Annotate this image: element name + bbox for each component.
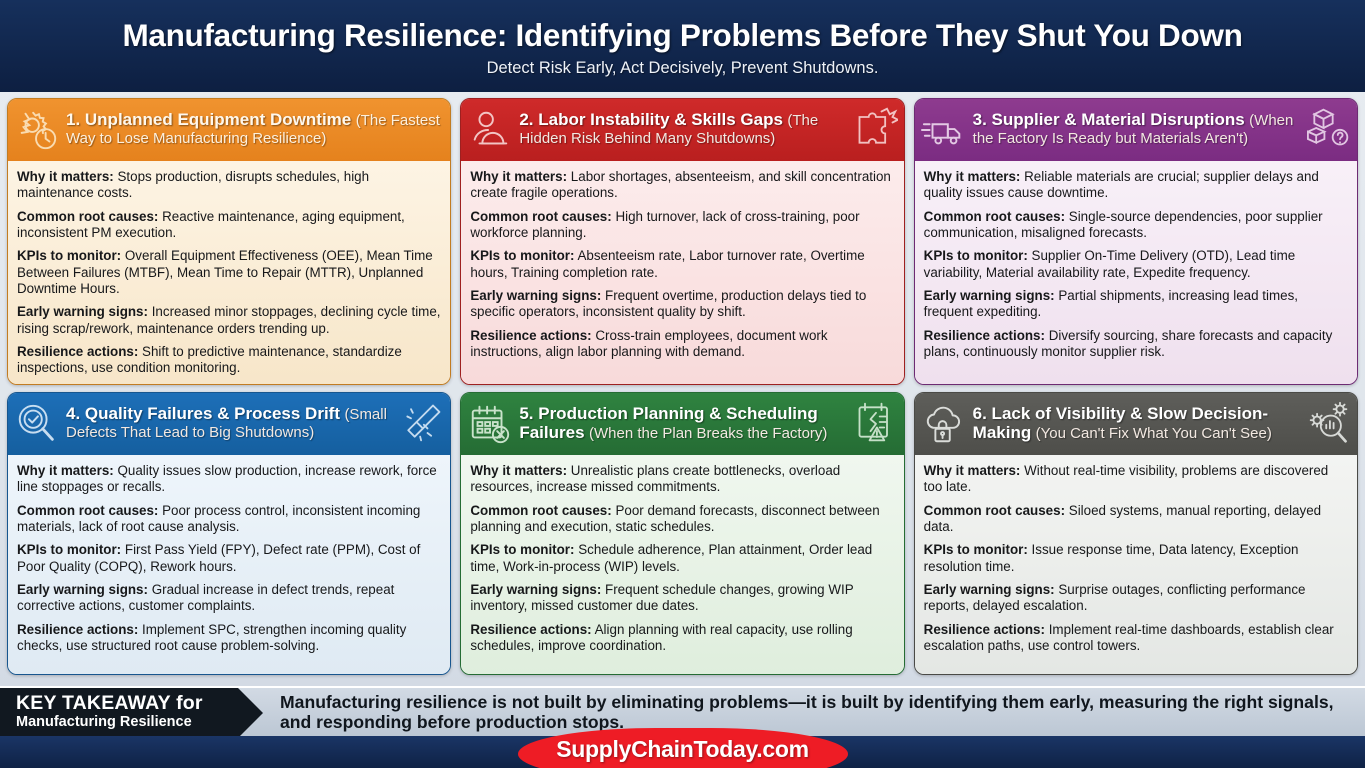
why-label: Why it matters: [470,169,567,184]
boxes-question-icon [1307,106,1351,150]
warning-label: Early warning signs: [470,288,601,303]
key-takeaway-label: KEY TAKEAWAY for Manufacturing Resilienc… [0,688,238,736]
root-causes-row: Common root causes: Reactive maintenance… [17,209,441,242]
page-subtitle: Detect Risk Early, Act Decisively, Preve… [487,59,879,78]
why-label: Why it matters: [924,463,1021,478]
cloud-lock-icon [921,401,967,447]
actions-label: Resilience actions: [17,344,138,359]
key-takeaway-label-line1: KEY TAKEAWAY for [16,693,238,713]
why-it-matters-row: Why it matters: Unrealistic plans create… [470,463,894,496]
actions-row: Resilience actions: Implement SPC, stren… [17,622,441,655]
card-header-text: 4. Quality Failures & Process Drift (Sma… [66,405,394,442]
card-header: 1. Unplanned Equipment Downtime (The Fas… [8,99,450,161]
card-body: Why it matters: Stops production, disrup… [8,161,450,384]
root-causes-row: Common root causes: Siloed systems, manu… [924,503,1348,536]
card-header: 3. Supplier & Material Disruptions (When… [915,99,1357,161]
card-title: 2. Labor Instability & Skills Gaps [519,110,783,129]
warning-signs-row: Early warning signs: Partial shipments, … [924,288,1348,321]
kpis-label: KPIs to monitor: [470,542,574,557]
kpis-row: KPIs to monitor: Issue response time, Da… [924,542,1348,575]
calendar-cancel-icon [467,401,513,447]
card-title: 1. Unplanned Equipment Downtime [66,110,351,129]
card-body: Why it matters: Quality issues slow prod… [8,455,450,674]
kpis-row: KPIs to monitor: Schedule adherence, Pla… [470,542,894,575]
why-label: Why it matters: [470,463,567,478]
card-quality-failures-process-drift[interactable]: 4. Quality Failures & Process Drift (Sma… [7,392,451,675]
why-it-matters-row: Why it matters: Labor shortages, absente… [470,169,894,202]
root-causes-row: Common root causes: Poor demand forecast… [470,503,894,536]
why-it-matters-row: Why it matters: Stops production, disrup… [17,169,441,202]
warning-label: Early warning signs: [17,582,148,597]
card-body: Why it matters: Labor shortages, absente… [461,161,903,384]
warning-label: Early warning signs: [17,304,148,319]
kpis-label: KPIs to monitor: [470,248,574,263]
card-header: 2. Labor Instability & Skills Gaps (The … [461,99,903,161]
kpis-row: KPIs to monitor: Absenteeism rate, Labor… [470,248,894,281]
card-lack-of-visibility-slow-decision-making[interactable]: 6. Lack of Visibility & Slow Decision-Ma… [914,392,1358,675]
actions-row: Resilience actions: Cross-train employee… [470,328,894,361]
footer-bar: SupplyChainToday.com [0,736,1365,768]
key-takeaway-label-line2: Manufacturing Resilience [16,715,238,731]
card-supplier-material-disruptions[interactable]: 3. Supplier & Material Disruptions (When… [914,98,1358,385]
actions-row: Resilience actions: Implement real-time … [924,622,1348,655]
card-body: Why it matters: Unrealistic plans create… [461,455,903,674]
puzzle-piece-icon [854,106,898,150]
root-causes-row: Common root causes: High turnover, lack … [470,209,894,242]
card-header: 5. Production Planning & Scheduling Fail… [461,393,903,455]
kpis-label: KPIs to monitor: [17,542,121,557]
warning-signs-row: Early warning signs: Frequent schedule c… [470,582,894,615]
card-header-text: 2. Labor Instability & Skills Gaps (The … [519,111,847,148]
infographic-page: Manufacturing Resilience: Identifying Pr… [0,0,1365,768]
actions-label: Resilience actions: [17,622,138,637]
page-title: Manufacturing Resilience: Identifying Pr… [122,17,1242,54]
card-header-text: 1. Unplanned Equipment Downtime (The Fas… [66,111,444,148]
broken-gear-clock-icon [14,107,60,153]
kpis-label: KPIs to monitor: [924,542,1028,557]
actions-row: Resilience actions: Diversify sourcing, … [924,328,1348,361]
site-logo-text: SupplyChainToday.com [556,736,809,763]
card-body: Why it matters: Reliable materials are c… [915,161,1357,384]
card-labor-instability-skills-gaps[interactable]: 2. Labor Instability & Skills Gaps (The … [460,98,904,385]
kpis-row: KPIs to monitor: Supplier On-Time Delive… [924,248,1348,281]
gears-magnifier-icon [1307,400,1351,444]
causes-label: Common root causes: [17,209,158,224]
causes-label: Common root causes: [17,503,158,518]
causes-label: Common root causes: [470,503,611,518]
card-unplanned-equipment-downtime[interactable]: 1. Unplanned Equipment Downtime (The Fas… [7,98,451,385]
card-production-planning-scheduling-failures[interactable]: 5. Production Planning & Scheduling Fail… [460,392,904,675]
actions-label: Resilience actions: [924,328,1045,343]
causes-label: Common root causes: [470,209,611,224]
cracked-part-icon [400,400,444,444]
card-subtitle: (You Can't Fix What You Can't See) [1036,425,1272,442]
actions-label: Resilience actions: [924,622,1045,637]
why-it-matters-row: Why it matters: Without real-time visibi… [924,463,1348,496]
card-title: 3. Supplier & Material Disruptions [973,110,1245,129]
card-subtitle: (When the Plan Breaks the Factory) [589,425,827,442]
card-header: 6. Lack of Visibility & Slow Decision-Ma… [915,393,1357,455]
warning-label: Early warning signs: [470,582,601,597]
root-causes-row: Common root causes: Poor process control… [17,503,441,536]
key-takeaway-text: Manufacturing resilience is not built by… [238,688,1365,736]
warning-signs-row: Early warning signs: Gradual increase in… [17,582,441,615]
why-it-matters-row: Why it matters: Reliable materials are c… [924,169,1348,202]
why-label: Why it matters: [17,169,114,184]
card-header: 4. Quality Failures & Process Drift (Sma… [8,393,450,455]
causes-label: Common root causes: [924,503,1065,518]
page-header: Manufacturing Resilience: Identifying Pr… [0,0,1365,92]
warning-signs-row: Early warning signs: Increased minor sto… [17,304,441,337]
worker-helmet-icon [467,107,513,153]
root-causes-row: Common root causes: Single-source depend… [924,209,1348,242]
kpis-row: KPIs to monitor: Overall Equipment Effec… [17,248,441,297]
actions-row: Resilience actions: Shift to predictive … [17,344,441,377]
why-it-matters-row: Why it matters: Quality issues slow prod… [17,463,441,496]
delivery-truck-icon [921,107,967,153]
site-logo[interactable]: SupplyChainToday.com [518,728,848,768]
card-header-text: 3. Supplier & Material Disruptions (When… [973,111,1301,148]
warning-signs-row: Early warning signs: Frequent overtime, … [470,288,894,321]
actions-label: Resilience actions: [470,622,591,637]
why-label: Why it matters: [924,169,1021,184]
card-grid: 1. Unplanned Equipment Downtime (The Fas… [7,98,1358,675]
card-header-text: 5. Production Planning & Scheduling Fail… [519,405,847,443]
schedule-warning-icon [854,400,898,444]
why-label: Why it matters: [17,463,114,478]
card-header-text: 6. Lack of Visibility & Slow Decision-Ma… [973,405,1301,443]
warning-signs-row: Early warning signs: Surprise outages, c… [924,582,1348,615]
magnifier-check-icon [14,401,60,447]
kpis-label: KPIs to monitor: [924,248,1028,263]
actions-label: Resilience actions: [470,328,591,343]
kpis-label: KPIs to monitor: [17,248,121,263]
causes-label: Common root causes: [924,209,1065,224]
warning-label: Early warning signs: [924,582,1055,597]
warning-label: Early warning signs: [924,288,1055,303]
card-title: 4. Quality Failures & Process Drift [66,404,340,423]
actions-row: Resilience actions: Align planning with … [470,622,894,655]
kpis-row: KPIs to monitor: First Pass Yield (FPY),… [17,542,441,575]
card-body: Why it matters: Without real-time visibi… [915,455,1357,674]
